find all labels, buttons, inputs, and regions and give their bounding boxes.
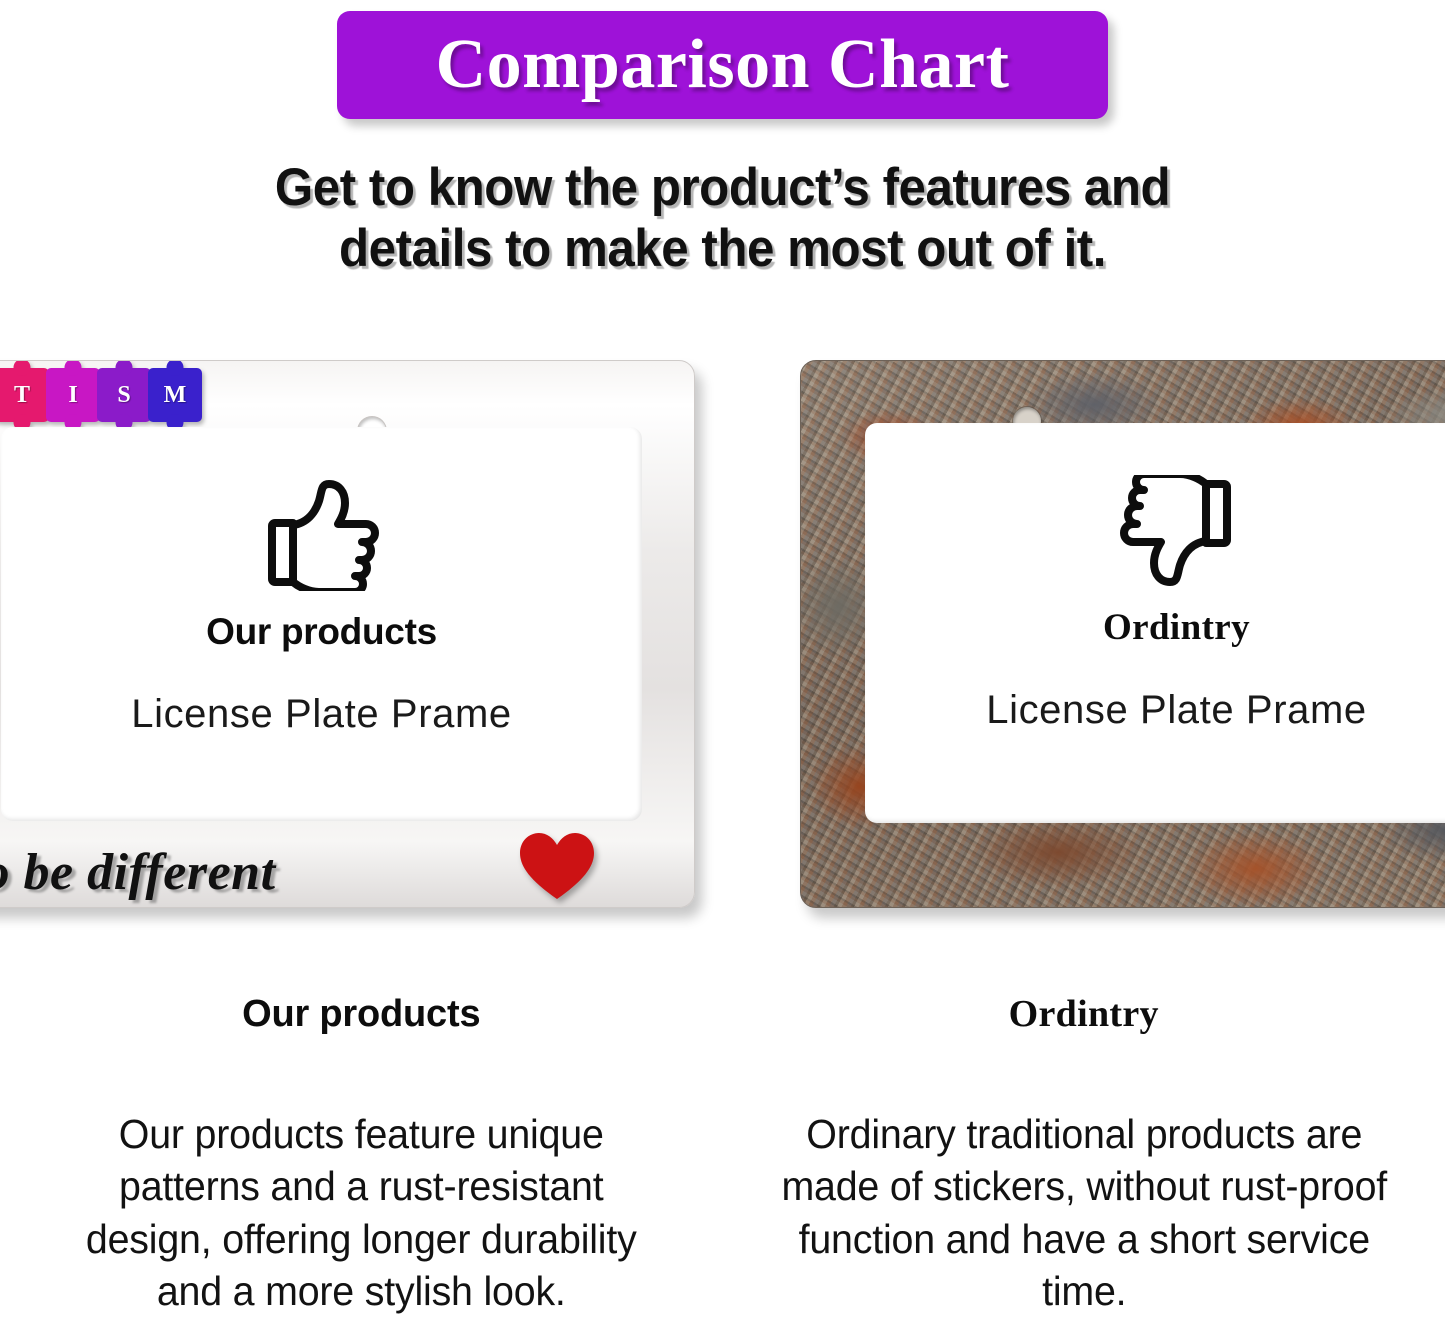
ordinary-product-description: Ordinary traditional products are made o… bbox=[779, 1108, 1388, 1318]
our-product-brand-name: Our products bbox=[1, 613, 642, 650]
heart-icon bbox=[518, 831, 596, 901]
puzzle-piece-m: M bbox=[148, 368, 202, 422]
our-product-frame: A U T I S M bbox=[0, 360, 695, 908]
ordinary-product-window-content: Ordintry License Plate Prame bbox=[865, 475, 1445, 730]
comparison-columns: Our products Our products feature unique… bbox=[0, 995, 1445, 1318]
ordinary-product-line: License Plate Prame bbox=[865, 690, 1445, 730]
thumbs-down-icon bbox=[1118, 475, 1236, 587]
subtitle-line-1: Get to know the product’s features and bbox=[51, 157, 1395, 218]
license-plate-window: Our products License Plate Prame bbox=[1, 427, 642, 821]
ordinary-product-column: Ordintry Ordinary traditional products a… bbox=[723, 995, 1445, 1318]
license-plate-window: Ordintry License Plate Prame bbox=[865, 423, 1445, 823]
puzzle-letter: T bbox=[14, 382, 30, 409]
title-banner-background: Comparison Chart bbox=[337, 11, 1108, 119]
puzzle-piece-t: T bbox=[0, 368, 49, 422]
page-title: Comparison Chart bbox=[436, 30, 1010, 100]
product-frames-row: A U T I S M bbox=[0, 360, 1445, 915]
thumbs-up-icon bbox=[263, 479, 381, 591]
title-banner: Comparison Chart bbox=[337, 11, 1108, 119]
ordinary-product-frame: Ordintry License Plate Prame bbox=[800, 360, 1445, 908]
puzzle-piece-i: I bbox=[46, 368, 100, 422]
subtitle: Get to know the product’s features and d… bbox=[51, 157, 1395, 280]
ordinary-product-brand-name: Ordintry bbox=[865, 609, 1445, 646]
puzzle-letter: I bbox=[68, 382, 77, 409]
our-product-heading: Our products bbox=[44, 995, 679, 1033]
our-product-window-content: Our products License Plate Prame bbox=[1, 479, 642, 734]
our-product-description: Our products feature unique patterns and… bbox=[57, 1108, 666, 1318]
ordinary-product-heading: Ordintry bbox=[767, 995, 1402, 1033]
puzzle-letter: S bbox=[117, 382, 130, 409]
our-product-column: Our products Our products feature unique… bbox=[0, 995, 723, 1318]
autism-puzzle-strip: A U T I S M bbox=[0, 368, 199, 422]
subtitle-line-2: details to make the most out of it. bbox=[51, 218, 1395, 279]
our-product-line: License Plate Prame bbox=[1, 694, 642, 734]
puzzle-piece-s: S bbox=[97, 368, 151, 422]
frame-script-text: ay to be different bbox=[0, 847, 465, 899]
puzzle-letter: M bbox=[164, 382, 187, 409]
